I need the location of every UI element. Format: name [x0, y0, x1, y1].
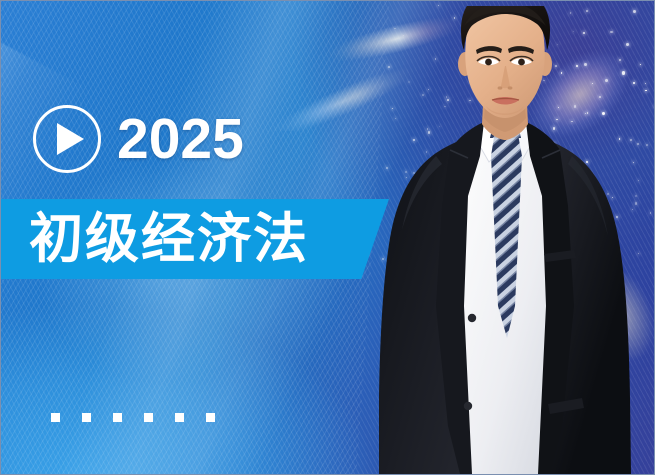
star-icon [646, 144, 648, 146]
decorative-dot [144, 413, 153, 422]
presenter-head [458, 6, 552, 118]
star-icon [635, 195, 636, 196]
decorative-dot [51, 413, 60, 422]
decorative-dot-row [51, 413, 215, 422]
course-title: 初级经济法 [29, 212, 309, 266]
year-row: 2025 [33, 105, 244, 173]
decorative-dot [113, 413, 122, 422]
presenter-portrait [376, 6, 634, 474]
course-title-banner: 初级经济法 [0, 199, 389, 279]
decorative-dot [82, 413, 91, 422]
play-circle-icon[interactable] [33, 105, 101, 173]
decorative-dot [175, 413, 184, 422]
star-icon [645, 90, 646, 91]
star-icon [650, 212, 652, 214]
star-icon [638, 180, 639, 181]
course-poster: 2025 初级经济法 [0, 0, 655, 475]
star-icon [645, 83, 646, 84]
star-icon [637, 143, 639, 145]
star-icon [640, 64, 641, 65]
play-triangle-icon [57, 123, 84, 155]
star-icon [635, 202, 637, 204]
year-label: 2025 [117, 111, 244, 168]
decorative-dot [206, 413, 215, 422]
